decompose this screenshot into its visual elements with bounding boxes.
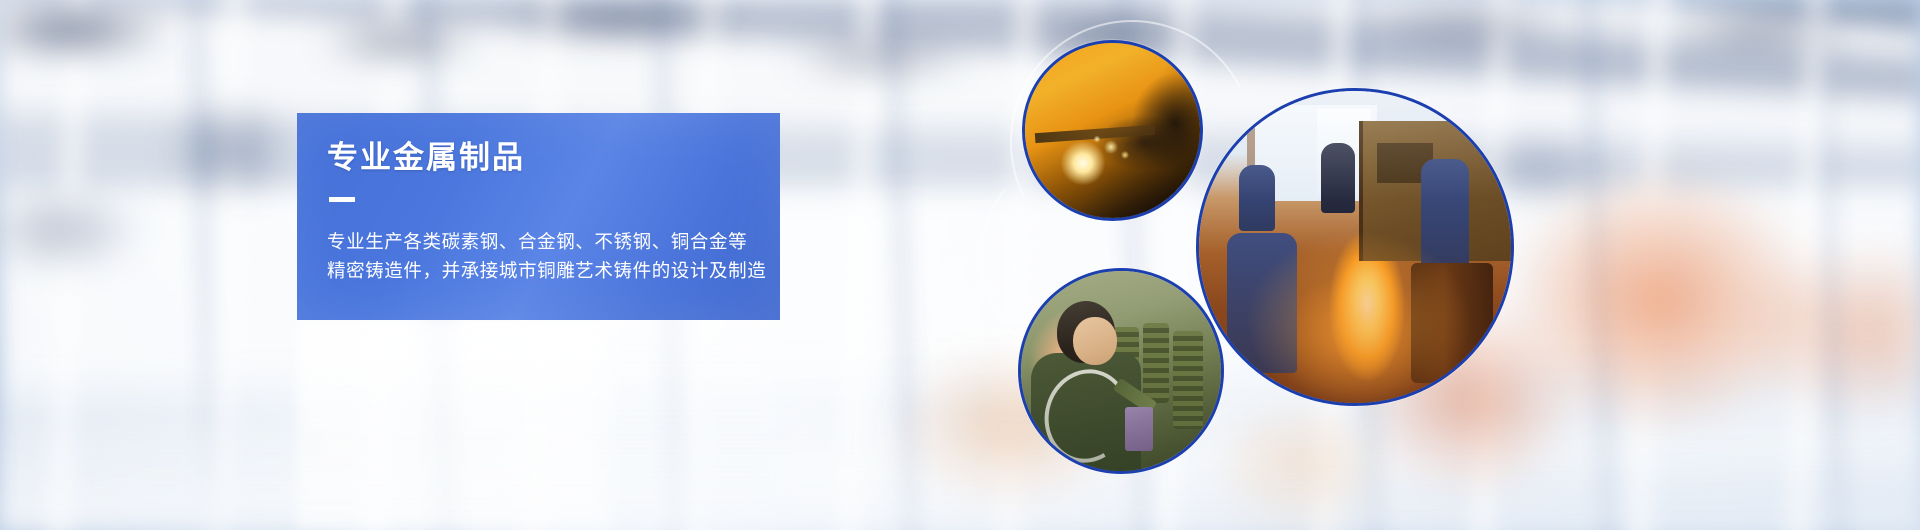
welding-sparks-photo: [1022, 40, 1203, 221]
hero-banner: 专业金属制品 专业生产各类碳素钢、合金钢、不锈钢、铜合金等 精密铸造件，并承接城…: [0, 0, 1920, 530]
promo-description-line-1: 专业生产各类碳素钢、合金钢、不锈钢、铜合金等: [327, 228, 780, 257]
promo-text-panel: 专业金属制品 专业生产各类碳素钢、合金钢、不锈钢、铜合金等 精密铸造件，并承接城…: [297, 113, 780, 320]
foundry-pour-photo: [1196, 88, 1514, 406]
promo-description: 专业生产各类碳素钢、合金钢、不锈钢、铜合金等 精密铸造件，并承接城市铜雕艺术铸件…: [327, 228, 780, 285]
assembly-worker-photo: [1018, 268, 1224, 474]
assembly-worker-photo-overlay: [1021, 271, 1221, 471]
promo-description-line-2: 精密铸造件，并承接城市铜雕艺术铸件的设计及制造: [327, 257, 780, 286]
background-floor: [0, 410, 1920, 530]
welding-sparks-photo-overlay: [1025, 43, 1200, 218]
title-divider: [329, 197, 355, 202]
page-title: 专业金属制品: [327, 141, 780, 175]
foundry-pour-photo-overlay: [1199, 91, 1511, 403]
